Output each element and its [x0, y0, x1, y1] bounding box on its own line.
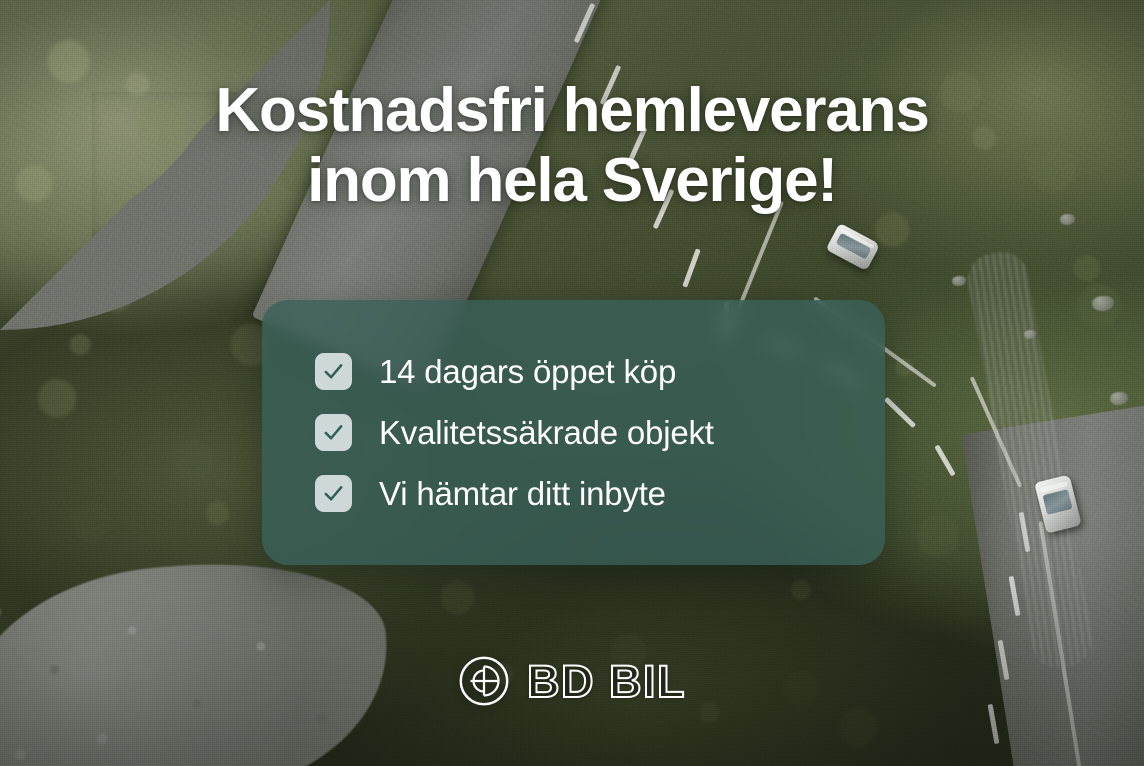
brand-logo[interactable]: BD BIL [0, 655, 1144, 707]
page-title: Kostnadsfri hemleverans inom hela Sverig… [0, 76, 1144, 216]
feature-label: Vi hämtar ditt inbyte [379, 477, 666, 510]
checkbox-checked-icon[interactable] [315, 414, 352, 451]
promo-banner: Kostnadsfri hemleverans inom hela Sverig… [0, 0, 1144, 766]
checkbox-checked-icon[interactable] [315, 353, 352, 390]
logo-wordmark: BD BIL [527, 659, 686, 704]
list-item: Kvalitetssäkrade objekt [315, 414, 885, 451]
checkbox-checked-icon[interactable] [315, 475, 352, 512]
bd-bil-circle-monogram-icon [458, 655, 510, 707]
list-item: 14 dagars öppet köp [315, 353, 885, 390]
list-item: Vi hämtar ditt inbyte [315, 475, 885, 512]
feature-card: 14 dagars öppet köp Kvalitetssäkrade obj… [262, 300, 885, 565]
feature-label: 14 dagars öppet köp [379, 355, 676, 388]
feature-label: Kvalitetssäkrade objekt [379, 416, 714, 449]
